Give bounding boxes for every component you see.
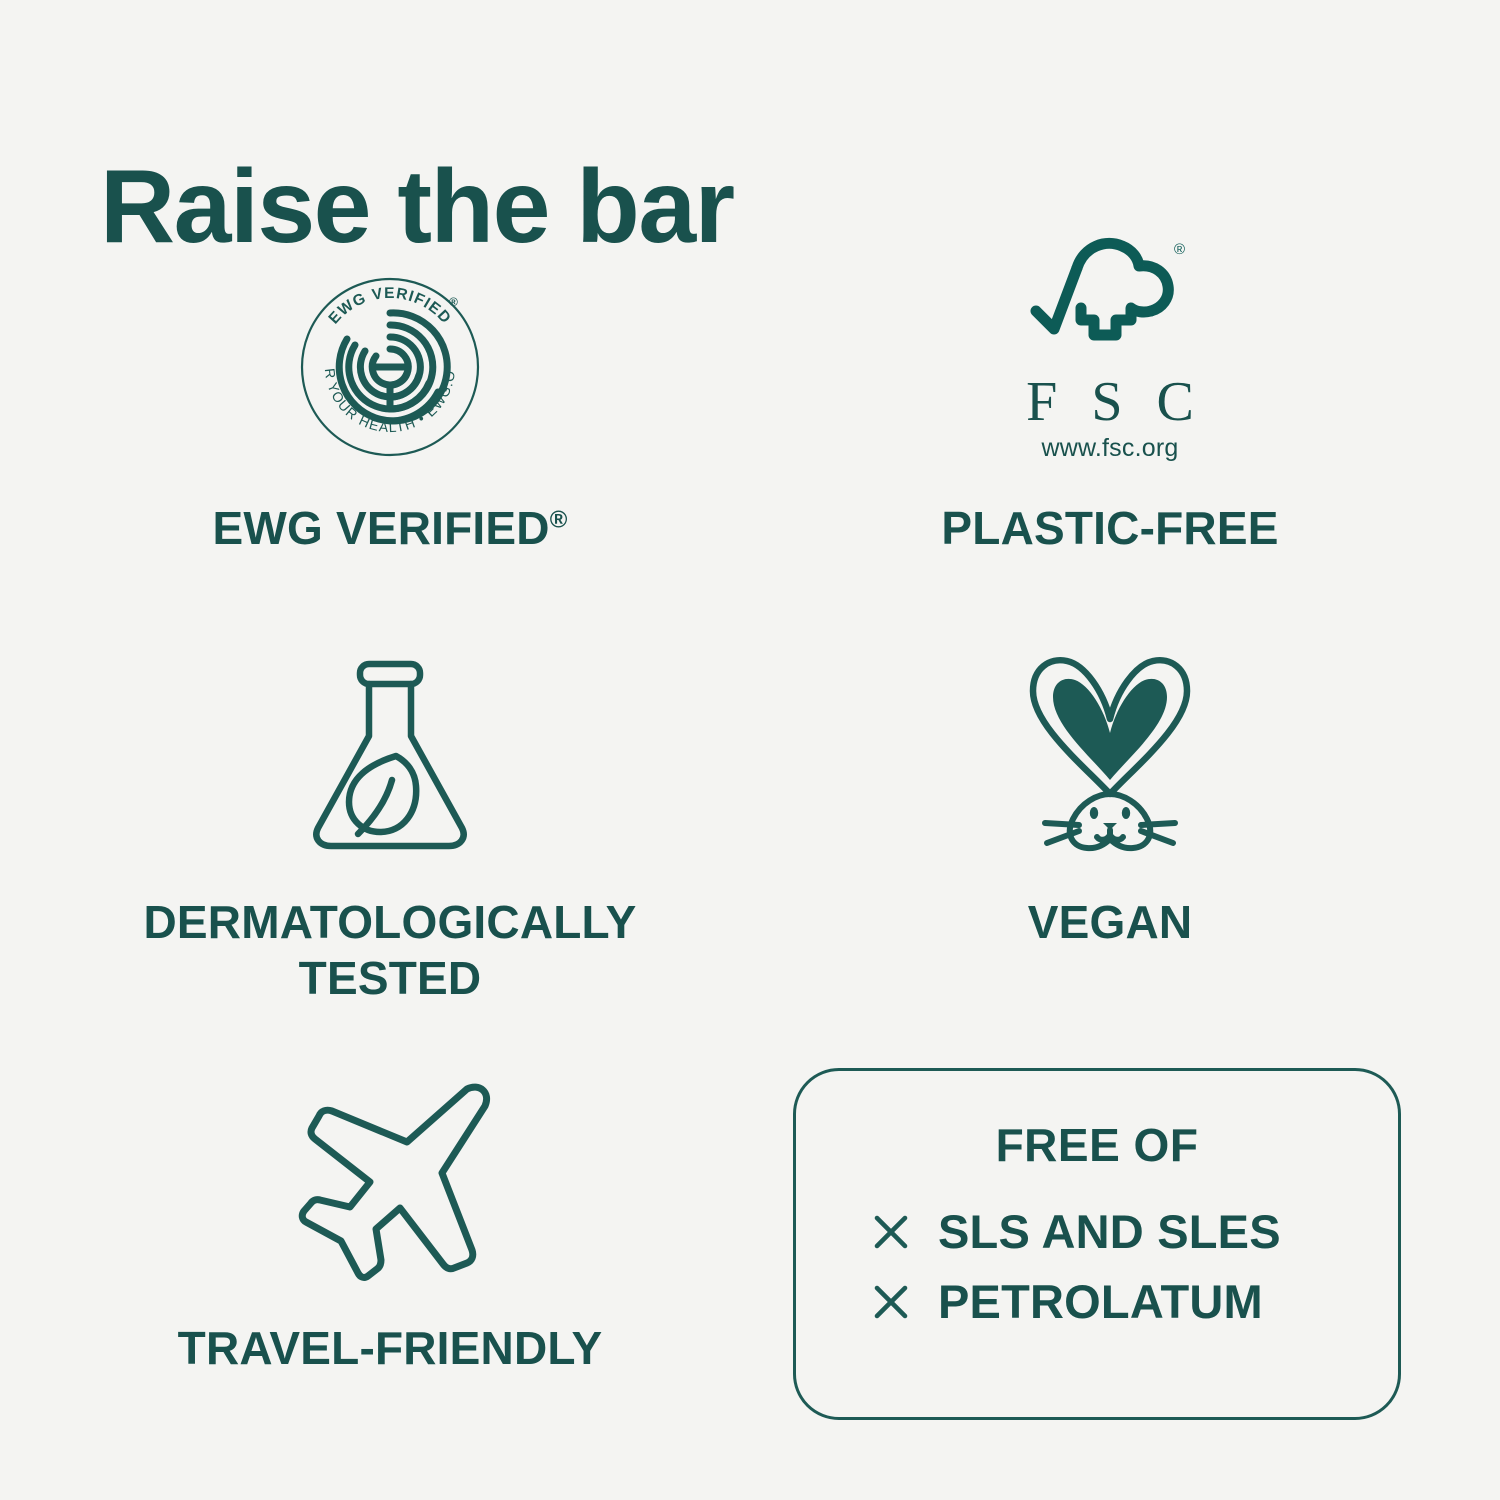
fsc-tree-checkmark-icon: ®	[1028, 232, 1192, 372]
badge-label-line-1: DERMATOLOGICALLY	[143, 896, 636, 948]
infographic-page: Raise the bar EWG VERIFIED • FOR YOUR HE…	[0, 0, 1500, 1500]
free-of-item-label: SLS AND SLES	[938, 1205, 1281, 1259]
page-title: Raise the bar	[100, 152, 734, 262]
badge-label: EWG VERIFIED®	[212, 500, 567, 556]
registered-mark: ®	[449, 295, 458, 309]
bunny-eye-left	[1090, 807, 1098, 819]
ewg-verified-seal-icon: EWG VERIFIED • FOR YOUR HEALTH • EWG.ORG…	[295, 272, 485, 462]
bunny-icon-wrap	[1015, 652, 1205, 852]
free-of-item-label: PETROLATUM	[938, 1275, 1263, 1329]
bunny-with-heart-ears-icon	[1015, 647, 1205, 852]
fsc-wordmark: F S C	[1016, 374, 1204, 430]
badge-label-line-2: TESTED	[299, 952, 482, 1004]
fsc-registered-mark: ®	[1174, 241, 1185, 258]
flask-with-leaf-icon	[300, 652, 480, 852]
flask-icon-wrap	[300, 652, 480, 852]
fsc-logo: ® F S C www.fsc.org	[1016, 232, 1204, 462]
fsc-url: www.fsc.org	[1042, 434, 1179, 462]
airplane-icon-wrap	[276, 1082, 504, 1292]
badge-plastic-free: ® F S C www.fsc.org PLASTIC-FREE	[760, 262, 1460, 632]
badge-travel-friendly: TRAVEL-FRIENDLY	[40, 1082, 740, 1472]
x-mark-icon	[872, 1213, 910, 1251]
badge-dermatologically-tested: DERMATOLOGICALLY TESTED	[40, 652, 740, 1082]
free-of-title: FREE OF	[996, 1119, 1199, 1171]
badge-label: TRAVEL-FRIENDLY	[178, 1320, 603, 1376]
fsc-logo-wrap: ® F S C www.fsc.org	[1016, 262, 1204, 462]
badge-label: DERMATOLOGICALLY TESTED	[143, 894, 636, 1006]
badge-ewg-verified: EWG VERIFIED • FOR YOUR HEALTH • EWG.ORG…	[40, 262, 740, 632]
registered-superscript: ®	[550, 507, 568, 534]
ewg-verified-seal-icon-wrap: EWG VERIFIED • FOR YOUR HEALTH • EWG.ORG…	[295, 262, 485, 462]
x-mark-icon	[872, 1283, 910, 1321]
free-of-item: PETROLATUM	[872, 1275, 1281, 1329]
badge-label: PLASTIC-FREE	[941, 500, 1278, 556]
badge-label: VEGAN	[1028, 894, 1193, 950]
badge-vegan: VEGAN	[760, 652, 1460, 1082]
badge-label-text: EWG VERIFIED	[212, 502, 549, 554]
bunny-eye-right	[1122, 807, 1130, 819]
free-of-item: SLS AND SLES	[872, 1205, 1281, 1259]
airplane-icon	[276, 1077, 504, 1292]
free-of-list: SLS AND SLES PETROLATUM	[796, 1205, 1281, 1329]
free-of-card: FREE OF SLS AND SLES PETRO	[793, 1068, 1401, 1420]
